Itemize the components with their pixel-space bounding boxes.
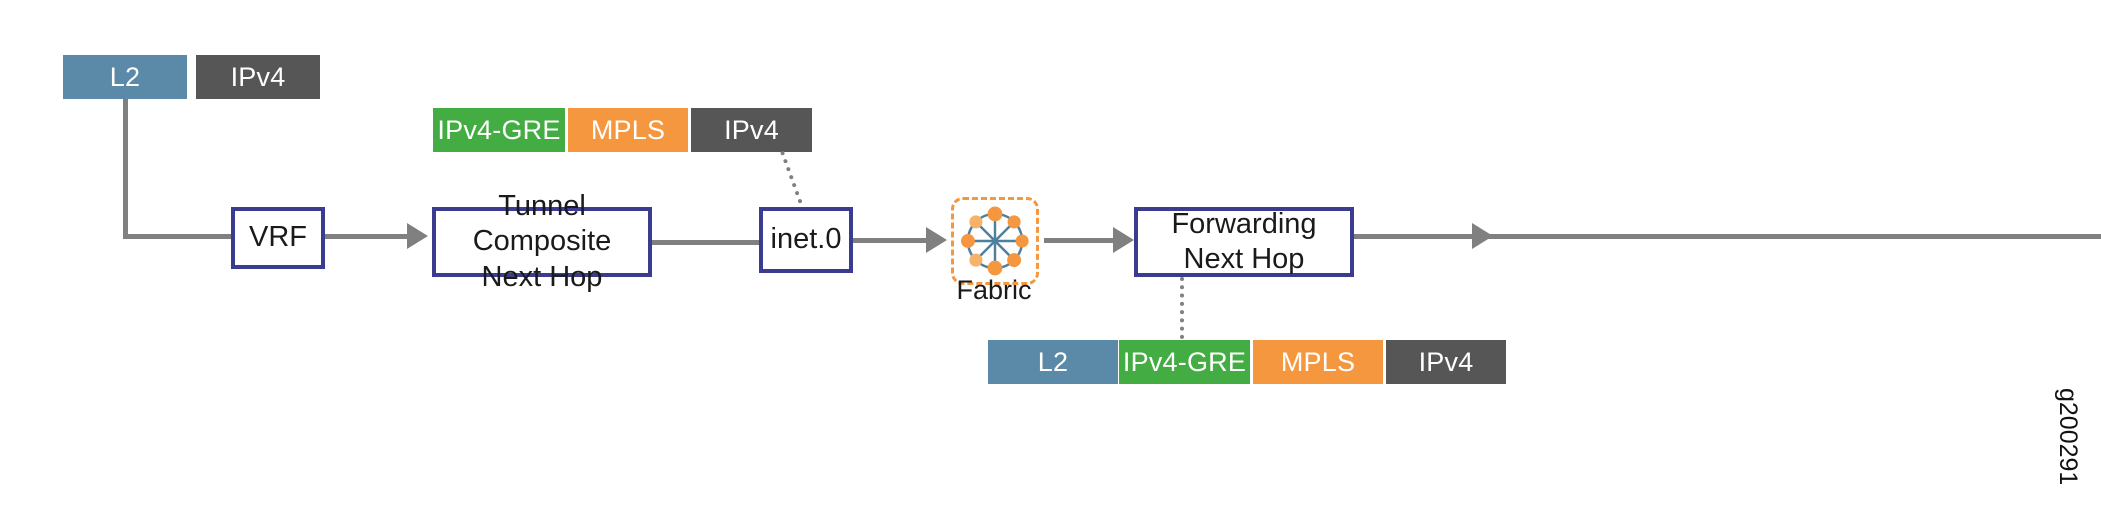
connector-tunnel-to-inet0 [652, 240, 760, 245]
connector-fabric-to-forwarding [1044, 238, 1120, 243]
arrowhead-egress-out [1472, 223, 1493, 249]
fabric-label: Fabric [930, 275, 1058, 306]
egress-stack-layer-l2: L2 [988, 340, 1118, 384]
arrowhead-vrf-to-tunnel [407, 223, 428, 249]
egress-stack-layer-mpls: MPLS [1253, 340, 1383, 384]
egress-stack-layer-ipv4-gre: IPv4-GRE [1119, 340, 1250, 384]
fabric-icon[interactable] [951, 197, 1039, 285]
transit-stack-layer-ipv4: IPv4 [691, 108, 812, 152]
ingress-stack-layer-l2: L2 [63, 55, 187, 99]
node-vrf[interactable]: VRF [231, 207, 325, 269]
connector-vrf-to-tunnel [325, 234, 409, 239]
arrowhead-fabric-to-forwarding [1113, 227, 1134, 253]
node-inet0[interactable]: inet.0 [759, 207, 853, 273]
ingress-leader-horizontal [123, 234, 233, 239]
connector-forwarding-to-egress [1354, 234, 2101, 239]
transit-stack-layer-ipv4-gre: IPv4-GRE [433, 108, 565, 152]
node-forwarding-next-hop[interactable]: Forwarding Next Hop [1134, 207, 1354, 277]
arrowhead-inet0-to-fabric [926, 227, 947, 253]
ingress-stack-layer-ipv4: IPv4 [196, 55, 320, 99]
forwarding-stack-leader-dotted [1180, 277, 1184, 339]
figure-id-watermark: g200291 [2053, 388, 2082, 485]
node-tunnel-composite-next-hop[interactable]: Tunnel Composite Next Hop [432, 207, 652, 277]
egress-stack-layer-ipv4: IPv4 [1386, 340, 1506, 384]
ingress-leader-vertical [123, 99, 128, 236]
transit-stack-layer-mpls: MPLS [568, 108, 688, 152]
connector-inet0-to-fabric [853, 238, 929, 243]
diagram-canvas: L2 IPv4 IPv4-GRE MPLS IPv4 VRF Tunnel Co… [0, 0, 2101, 522]
transit-stack-leader-dotted [780, 151, 803, 204]
